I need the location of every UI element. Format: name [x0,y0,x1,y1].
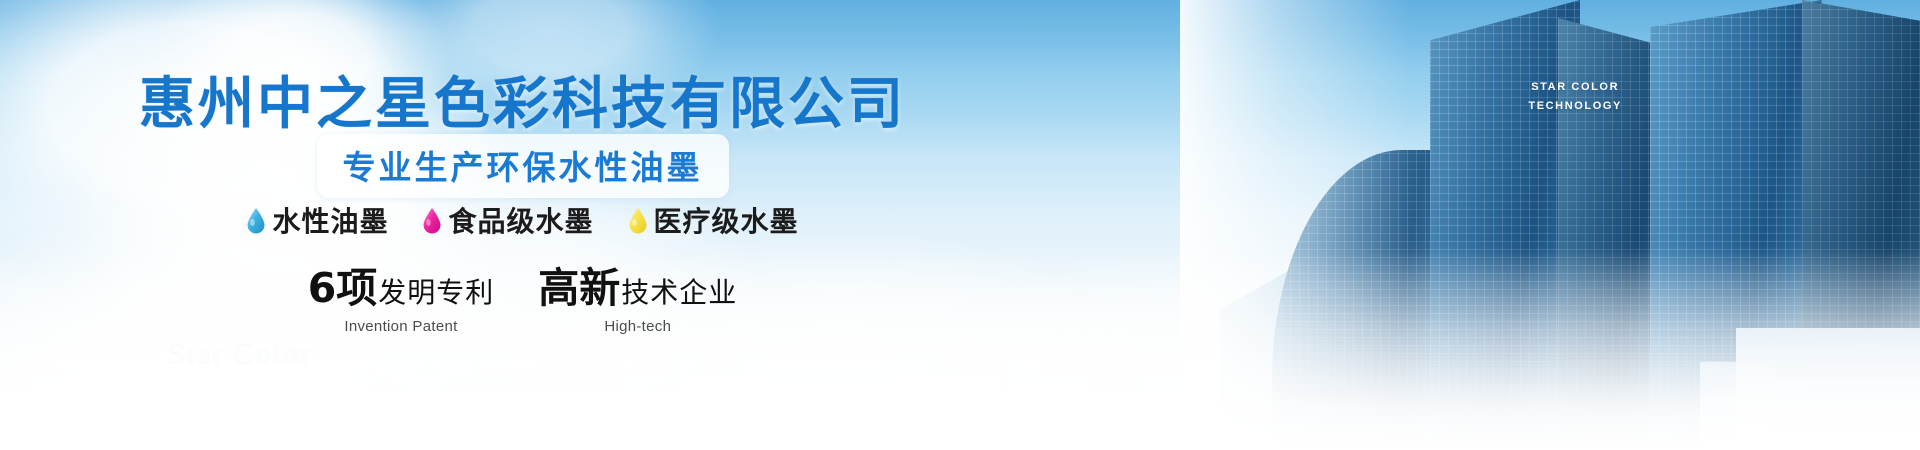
building-fade-overlay [1180,0,1410,450]
credential-badge-big: 高新 [538,268,620,309]
water-drop-icon [246,207,266,234]
building-shape [1650,0,1822,450]
corner-brand-line2: TECHNOLOGY [1528,97,1622,116]
corner-brand-mark: STAR COLOR TECHNOLOGY [1528,78,1622,116]
water-drop-icon [628,207,648,234]
company-hero-banner: Star Color STAR COLOR TECHNOLOGY 惠州中之星色彩… [0,0,1920,450]
credential-badge: 6项 发明专利 Invention Patent [308,268,495,335]
ink-product-item: 医疗级水墨 [628,200,799,240]
subtitle-pill: 专业生产环保水性油墨 [317,134,729,198]
building-shape [1272,150,1468,450]
credential-badge-main: 高新 技术企业 [538,268,737,309]
ink-product-item: 食品级水墨 [422,200,593,240]
credential-badge-small: 技术企业 [621,279,737,307]
corner-brand-line1: STAR COLOR [1528,78,1622,97]
ink-product-item: 水性油墨 [246,200,388,240]
credential-badge-en: High-tech [538,318,737,335]
skyscraper-illustration [1180,0,1920,450]
building-shape [1802,0,1920,450]
credential-badge-list: 6项 发明专利 Invention Patent 高新 技术企业 High-te… [0,268,1045,335]
building-shape [1558,0,1676,450]
company-title: 惠州中之星色彩科技有限公司 [0,59,1045,140]
credential-badge-small: 发明专利 [378,279,494,307]
credential-badge: 高新 技术企业 High-tech [538,268,737,335]
ink-product-list: 水性油墨 食品级水墨 [0,200,1045,240]
building-shape [1220,270,1340,450]
building-haze-overlay [1180,240,1920,450]
credential-badge-big: 6项 [308,268,378,309]
banner-content: 惠州中之星色彩科技有限公司 专业生产环保水性油墨 水性油墨 [0,0,1045,450]
building-shape [1700,362,1770,450]
building-shape [1430,0,1580,450]
building-shape [1736,328,1920,450]
water-drop-icon [422,207,442,234]
credential-badge-en: Invention Patent [308,318,495,335]
cloud-shape [1100,300,1620,450]
ink-product-label: 水性油墨 [272,200,388,240]
credential-badge-main: 6项 发明专利 [308,268,495,309]
ink-product-label: 医疗级水墨 [654,200,799,240]
ink-product-label: 食品级水墨 [448,200,593,240]
